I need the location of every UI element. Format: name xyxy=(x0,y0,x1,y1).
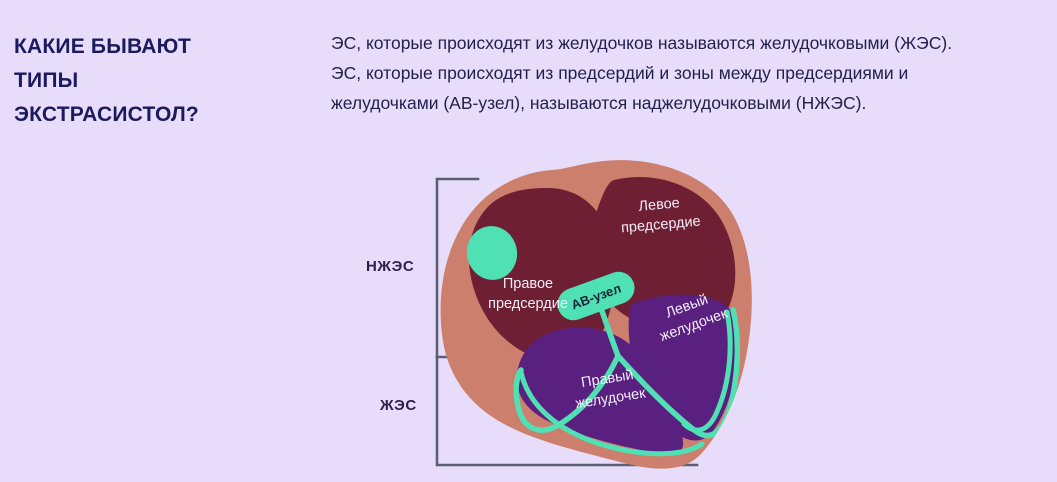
av-node-label: АВ-узел xyxy=(569,281,623,313)
page-title-line-3: ЭКСТРАСИСТОЛ? xyxy=(14,98,314,132)
left-atrium-label: Левое предсердие xyxy=(619,194,702,237)
bracket-label-nzhes: НЖЭС xyxy=(366,258,414,275)
bracket-label-zhes: ЖЭС xyxy=(380,397,417,414)
bracket-zhes xyxy=(437,357,697,465)
left-atrium-label-line-2: предсердие xyxy=(620,214,701,237)
page-title-line-2: ТИПЫ xyxy=(14,64,314,98)
slide-root: КАКИЕ БЫВАЮТ ТИПЫ ЭКСТРАСИСТОЛ? ЭС, кото… xyxy=(0,0,1057,482)
left-atrium-label-line-1: Левое xyxy=(638,195,680,215)
body-line-1: ЭС, которые происходят из желудочков наз… xyxy=(331,28,1045,58)
right-ventricle-label-line-1: Правый xyxy=(580,367,635,391)
body-paragraph: ЭС, которые происходят из желудочков наз… xyxy=(331,28,1045,118)
left-ventricle-shape xyxy=(629,295,739,441)
right-ventricle-shape xyxy=(517,328,683,455)
page-title-line-1: КАКИЕ БЫВАЮТ xyxy=(14,30,314,64)
left-ventricle-label: Левый желудочек xyxy=(651,287,730,345)
left-atrium-shape xyxy=(592,177,736,333)
right-atrium-label-line-1: Правое xyxy=(503,276,553,292)
right-ventricle-label-line-2: желудочек xyxy=(574,385,647,412)
right-atrium-shape xyxy=(469,188,614,361)
myocardium-shape xyxy=(441,160,752,469)
sinus-node-icon xyxy=(462,221,522,284)
conduction-pathway xyxy=(516,300,737,454)
left-ventricle-label-line-1: Левый xyxy=(664,292,711,322)
bracket-nzhes xyxy=(437,179,478,357)
right-atrium-label: Правое предсердие xyxy=(488,276,568,312)
body-line-3: желудочками (АВ-узел), называются наджел… xyxy=(331,88,1045,118)
page-title: КАКИЕ БЫВАЮТ ТИПЫ ЭКСТРАСИСТОЛ? xyxy=(14,30,314,132)
right-ventricle-label: Правый желудочек xyxy=(571,366,647,413)
right-atrium-label-line-2: предсердие xyxy=(488,296,568,312)
av-node-marker: АВ-узел xyxy=(553,267,639,324)
body-line-2: ЭС, которые происходят из предсердий и з… xyxy=(331,58,1045,88)
left-ventricle-label-line-2: желудочек xyxy=(658,306,731,345)
